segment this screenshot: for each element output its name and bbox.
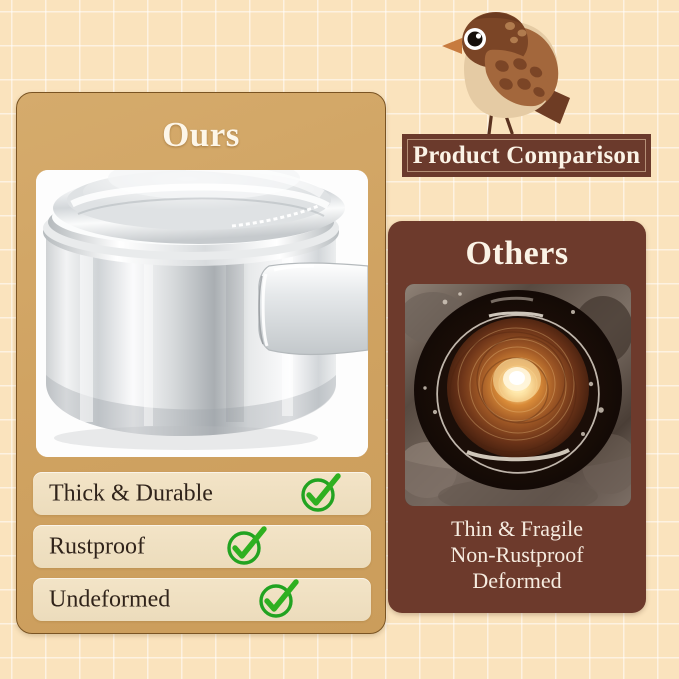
- others-con-item: Deformed: [388, 568, 646, 594]
- others-con-item: Thin & Fragile: [388, 516, 646, 542]
- feature-label: Rustproof: [49, 533, 145, 560]
- ours-product-photo: [36, 170, 368, 457]
- feature-row[interactable]: Rustproof: [33, 525, 371, 568]
- feature-label: Thick & Durable: [49, 480, 213, 507]
- feature-row[interactable]: Undeformed: [33, 578, 371, 621]
- feature-row[interactable]: Thick & Durable: [33, 472, 371, 515]
- others-cons-list: Thin & Fragile Non-Rustproof Deformed: [388, 516, 646, 594]
- ours-panel: Ours: [16, 92, 386, 634]
- product-comparison-infographic: Ours: [0, 0, 679, 679]
- stainless-steel-pot-icon: [36, 170, 368, 457]
- feature-label: Undeformed: [49, 586, 170, 613]
- check-circle-icon: [257, 580, 297, 620]
- sparrow-bird-icon: [434, 6, 580, 138]
- others-panel: Others: [388, 221, 646, 613]
- product-comparison-label: Product Comparison: [413, 142, 640, 170]
- rusted-pot-interior-icon: [405, 284, 631, 506]
- ours-title: Ours: [17, 115, 385, 155]
- check-circle-icon: [225, 527, 265, 567]
- others-product-photo: [405, 284, 631, 506]
- product-comparison-badge: Product Comparison: [402, 134, 651, 177]
- others-con-item: Non-Rustproof: [388, 542, 646, 568]
- brand-header: Product Comparison: [398, 6, 658, 186]
- ours-feature-list: Thick & Durable Rustproof: [33, 472, 371, 631]
- check-circle-icon: [299, 474, 339, 514]
- others-title: Others: [388, 235, 646, 273]
